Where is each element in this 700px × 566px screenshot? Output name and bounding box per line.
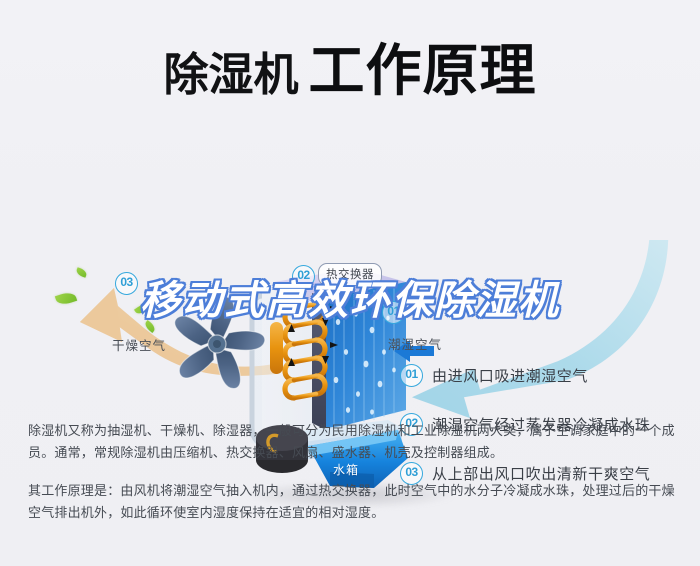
- badge-01-humid-air: 01: [382, 301, 405, 324]
- leaf-icon: [75, 267, 88, 278]
- fan-icon: [160, 288, 275, 400]
- label-dry-air: 干燥空气: [112, 335, 166, 354]
- badge-03-dry-air: 03: [115, 272, 138, 295]
- infographic-page: 除湿机工作原理: [0, 0, 700, 566]
- legend-label: 由进风口吸进潮湿空气: [432, 365, 588, 386]
- body-copy: 除湿机又称为抽湿机、干燥机、除湿器，一般可分为民用除湿机和工业除湿机两大类，属于…: [28, 420, 678, 540]
- page-title: 除湿机工作原理: [0, 26, 700, 107]
- title-secondary: 工作原理: [309, 39, 537, 102]
- diagram-stage: 03 02 01 干燥空气 潮湿空气 热交换器 水箱 01 由进风口吸进潮湿空气…: [0, 120, 700, 405]
- list-item: 01 由进风口吸进潮湿空气: [400, 360, 690, 391]
- legend-number: 01: [400, 364, 423, 387]
- title-primary: 除湿机: [163, 49, 298, 100]
- callout-heat-exchanger: 热交换器: [318, 263, 382, 286]
- badge-02-heat-exchanger: 02: [292, 265, 315, 288]
- leaf-icon: [55, 290, 77, 307]
- label-humid-air: 潮湿空气: [388, 334, 442, 353]
- paragraph-2: 其工作原理是：由风机将潮湿空气抽入机内，通过热交换器，此时空气中的水分子冷凝成水…: [28, 480, 678, 524]
- paragraph-1: 除湿机又称为抽湿机、干燥机、除湿器，一般可分为民用除湿机和工业除湿机两大类，属于…: [28, 420, 678, 464]
